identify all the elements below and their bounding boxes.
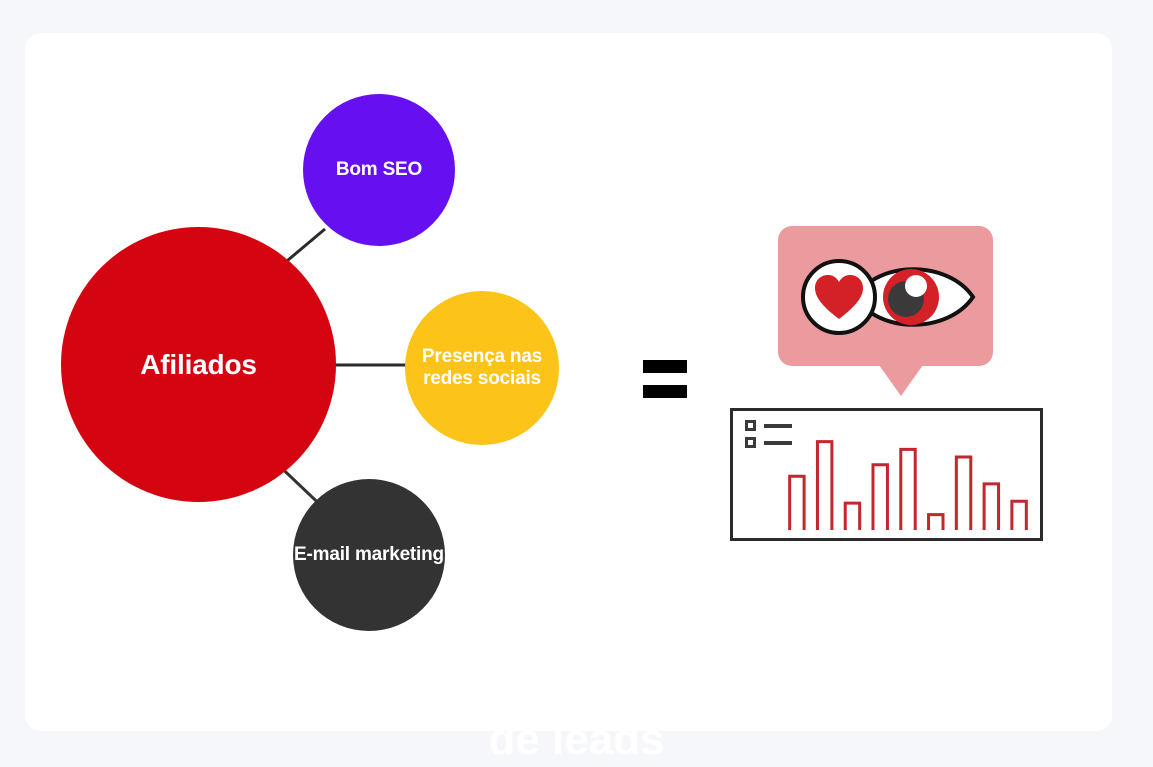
node-email-marketing-label: E-mail marketing bbox=[294, 544, 444, 566]
legend-swatch-icon bbox=[745, 420, 756, 431]
bar bbox=[929, 515, 943, 530]
bar bbox=[873, 465, 887, 530]
results-illustration bbox=[703, 193, 1063, 573]
metrics-chart-panel bbox=[730, 408, 1043, 541]
node-bom-seo-label: Bom SEO bbox=[336, 159, 422, 181]
legend-dash-icon bbox=[764, 424, 792, 428]
bar bbox=[817, 442, 831, 530]
node-presenca-redes-sociais[interactable]: Presença nas redes sociais bbox=[405, 291, 559, 445]
bar bbox=[1012, 501, 1026, 530]
bar bbox=[845, 503, 859, 530]
equals-symbol bbox=[643, 360, 687, 398]
bubble-diagram: Afiliados Bom SEO Presença nas redes soc… bbox=[25, 33, 625, 731]
speech-bubble-tail bbox=[879, 365, 923, 396]
content-card: Afiliados Bom SEO Presença nas redes soc… bbox=[25, 33, 1112, 731]
legend-swatch-icon bbox=[745, 437, 756, 448]
equals-bar-top bbox=[643, 360, 687, 373]
node-afiliados-label: Afiliados bbox=[140, 348, 256, 381]
heart-eye-icon-group bbox=[798, 252, 978, 342]
node-email-marketing[interactable]: E-mail marketing bbox=[293, 479, 445, 631]
bar-chart bbox=[783, 430, 1033, 530]
eye-highlight bbox=[905, 275, 927, 297]
bar bbox=[790, 476, 804, 530]
equals-bar-bottom bbox=[643, 385, 687, 398]
bar bbox=[956, 457, 970, 530]
bar bbox=[984, 484, 998, 530]
bar bbox=[901, 449, 915, 530]
node-afiliados[interactable]: Afiliados bbox=[61, 227, 336, 502]
node-presenca-redes-sociais-label: Presença nas redes sociais bbox=[405, 346, 559, 391]
node-bom-seo[interactable]: Bom SEO bbox=[303, 94, 455, 246]
bottom-caption-text: de leads bbox=[0, 731, 1153, 765]
bottom-caption: de leads bbox=[0, 731, 1153, 767]
